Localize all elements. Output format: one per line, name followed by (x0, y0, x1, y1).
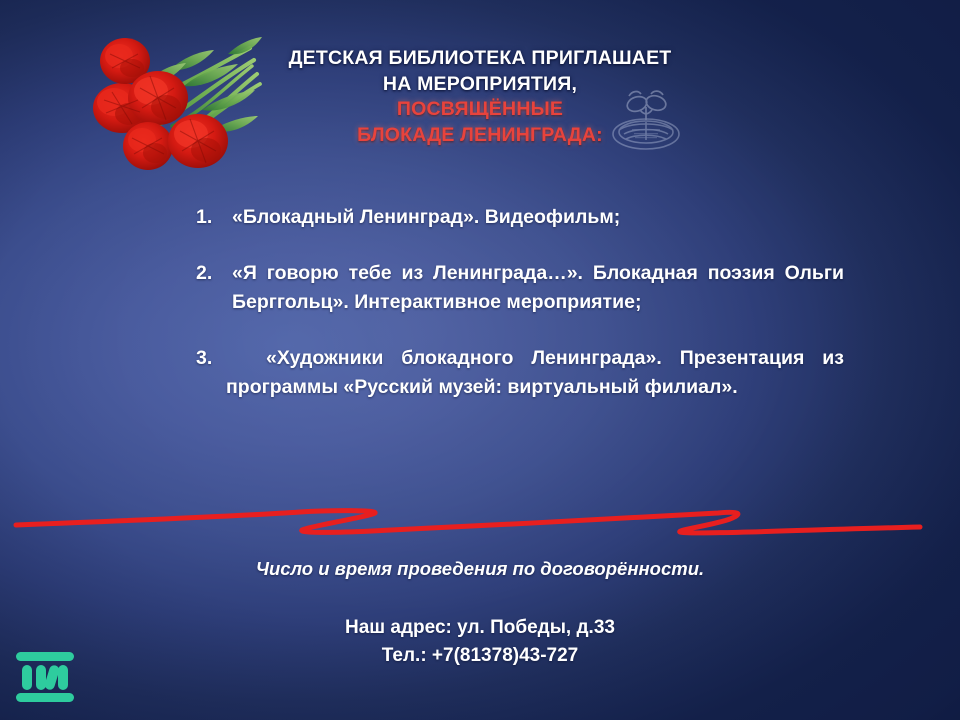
footer-note: Число и время проведения по договорённос… (0, 558, 960, 580)
library-column-logo-icon (14, 648, 76, 706)
list-item: 3. «Художники блокадного Ленинграда». Пр… (196, 344, 844, 402)
title-line-4: БЛОКАДЕ ЛЕНИНГРАДА: (200, 123, 760, 149)
list-item-number: 2. (196, 259, 220, 317)
title-line-2: НА МЕРОПРИЯТИЯ, (200, 72, 760, 98)
list-item: 2. «Я говорю тебе из Ленинграда…». Блока… (196, 259, 844, 317)
list-item-label: «Художники блокадного Ленинграда». Презе… (226, 344, 844, 402)
red-squiggle-divider (0, 492, 960, 548)
title-line-1: ДЕТСКАЯ БИБЛИОТЕКА ПРИГЛАШАЕТ (200, 46, 760, 72)
footer-contacts: Наш адрес: ул. Победы, д.33 Тел.: +7(813… (0, 614, 960, 670)
footer-address: Наш адрес: ул. Победы, д.33 (0, 614, 960, 642)
events-list: 1. «Блокадный Ленинград». Видеофильм; 2.… (196, 203, 844, 402)
list-item-number: 3. (196, 344, 220, 402)
list-item-label: «Я говорю тебе из Ленинграда…». Блокадна… (232, 259, 844, 317)
footer-phone: Тел.: +7(81378)43-727 (0, 642, 960, 670)
title-line-3: ПОСВЯЩЁННЫЕ (200, 97, 760, 123)
page-title: ДЕТСКАЯ БИБЛИОТЕКА ПРИГЛАШАЕТ НА МЕРОПРИ… (200, 46, 760, 148)
list-item: 1. «Блокадный Ленинград». Видеофильм; (196, 203, 844, 232)
slide-canvas: ДЕТСКАЯ БИБЛИОТЕКА ПРИГЛАШАЕТ НА МЕРОПРИ… (0, 0, 960, 720)
list-item-label: «Блокадный Ленинград». Видеофильм; (232, 203, 844, 232)
list-item-number: 1. (196, 203, 220, 232)
